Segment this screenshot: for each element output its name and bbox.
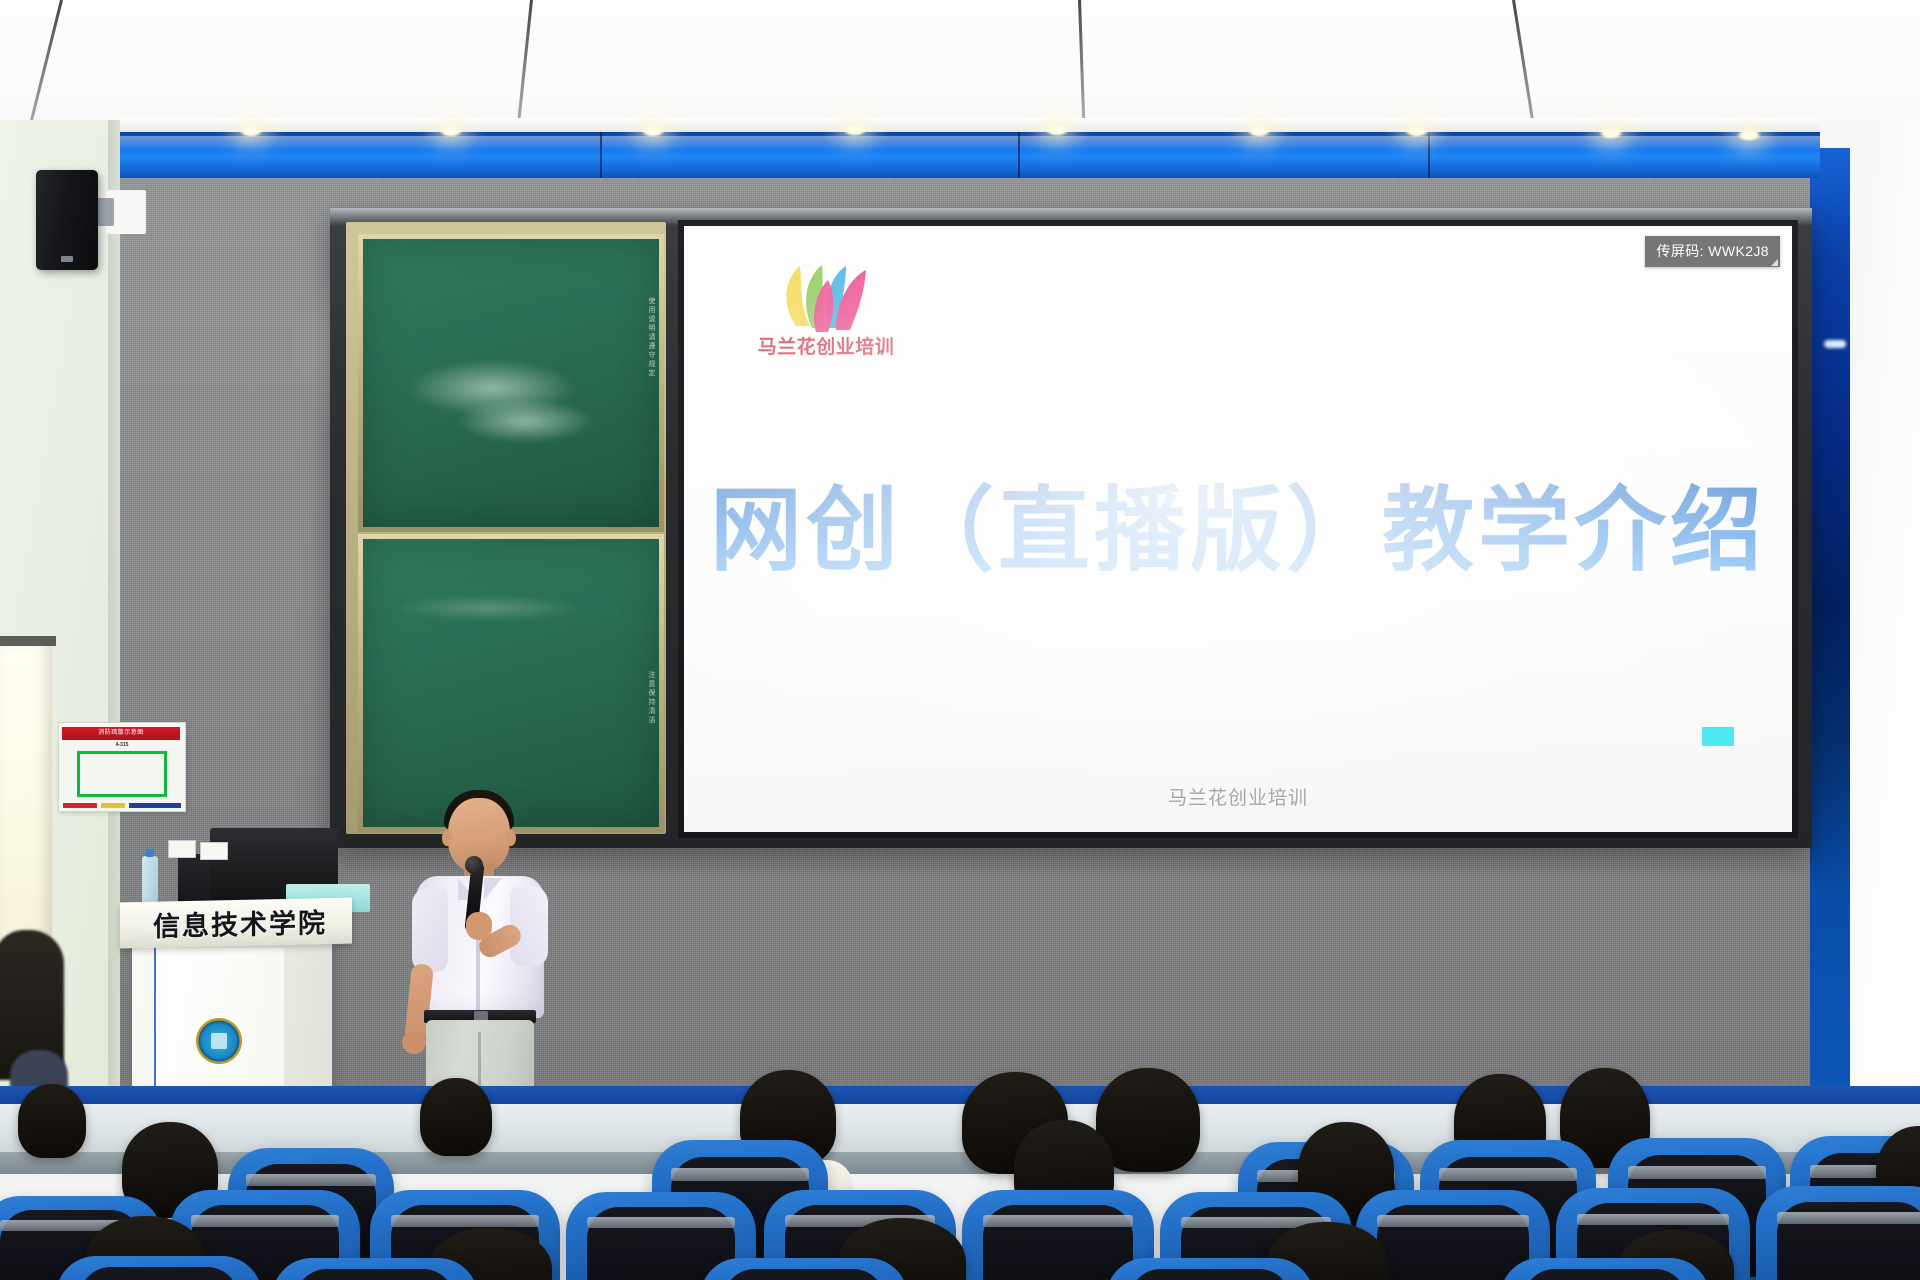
speaker-brand-mark — [61, 256, 73, 262]
papers — [168, 840, 196, 858]
seat-band — [671, 1168, 808, 1181]
seat-band — [1628, 1166, 1767, 1179]
blue-strip-seam — [1428, 132, 1430, 178]
chalk-smudge — [455, 399, 595, 443]
downlight — [842, 123, 868, 137]
school-crest-icon — [196, 1018, 242, 1064]
cast-code-text: 传屏码: WWK2J8 — [1656, 243, 1769, 259]
audience-seat[interactable] — [1106, 1258, 1314, 1280]
poster-room-number: 4-315 — [59, 742, 185, 748]
downlight — [1404, 124, 1430, 138]
seat-cushion — [79, 1267, 240, 1280]
presenter-collar-right — [484, 878, 502, 900]
downlight — [1736, 128, 1762, 142]
downlight — [438, 124, 464, 138]
microphone-capsule-icon — [465, 856, 483, 874]
evacuation-plan-poster: 消防疏散示意图 4-315 — [58, 722, 186, 812]
seat-cushion — [1523, 1269, 1687, 1280]
downlight — [1044, 123, 1070, 137]
blue-strip-gloss — [120, 136, 1820, 150]
accent-chip — [1702, 727, 1734, 746]
cast-code-badge: 传屏码: WWK2J8 — [1645, 236, 1780, 267]
chalkboard: 使用说明请遵守规定 注意保持清洁 — [346, 222, 666, 834]
poster-title: 消防疏散示意图 — [62, 727, 180, 740]
seat-band — [391, 1215, 539, 1226]
audience-seat[interactable] — [56, 1256, 262, 1280]
seat-cushion — [1129, 1269, 1291, 1280]
seat-band — [1777, 1212, 1920, 1224]
downlight — [1598, 126, 1624, 140]
doorway-header — [0, 636, 56, 646]
presenter-hand-left — [402, 1032, 426, 1054]
lecture-hall-scene: 消防疏散示意图 4-315 使用说明请遵守规定 注意保持清洁 传屏码: WWK2… — [0, 0, 1920, 1280]
chalkboard-side-label: 注意保持清洁 — [648, 671, 655, 725]
brand-logo-text: 马兰花创业培训 — [736, 338, 916, 357]
slide-footer: 马兰花创业培训 — [684, 783, 1792, 810]
blue-strip-seam — [1018, 132, 1020, 178]
chalkboard-panel-top: 使用说明请遵守规定 — [358, 234, 664, 532]
seat-band — [1377, 1215, 1528, 1226]
seat-cushion — [295, 1269, 456, 1280]
downlight — [238, 124, 264, 138]
seat-band — [1439, 1168, 1576, 1181]
blue-strip-seam — [600, 132, 602, 178]
seat-cushion — [723, 1269, 885, 1280]
downlight — [1246, 124, 1272, 138]
audience-seat[interactable] — [1756, 1186, 1920, 1280]
seat-band — [1577, 1214, 1728, 1226]
water-bottle — [142, 856, 158, 904]
seat-band — [983, 1215, 1133, 1226]
poster-legend-bar — [101, 803, 125, 808]
audience-seat[interactable] — [700, 1258, 908, 1280]
seat-band — [246, 1174, 375, 1186]
podium-label: 信息技术学院 — [142, 906, 338, 944]
audience-seat[interactable] — [272, 1258, 478, 1280]
presenter-ear — [506, 830, 516, 846]
blue-column-highlight — [1824, 340, 1846, 348]
right-wall — [1846, 120, 1920, 1100]
slide-title: 网创（直播版）教学介绍 — [684, 482, 1792, 581]
presenter-hand-right — [466, 912, 492, 940]
chalk-smudge — [393, 595, 583, 621]
presenter-ear — [442, 830, 452, 846]
presentation-slide[interactable]: 传屏码: WWK2J8 马兰花创业培训 网创（直播版）教学介绍 马兰花创业培 — [684, 226, 1792, 832]
flower-logo-icon — [766, 256, 886, 334]
poster-legend-bar — [63, 803, 97, 808]
chalkboard-side-label: 使用说明请遵守规定 — [648, 297, 655, 378]
projection-screen-bezel: 传屏码: WWK2J8 马兰花创业培训 网创（直播版）教学介绍 马兰花创业培 — [678, 220, 1798, 838]
seat-band — [587, 1217, 735, 1228]
presenter-arm-left — [412, 888, 448, 972]
audience-head — [420, 1078, 492, 1156]
audience-seat[interactable] — [1500, 1258, 1710, 1280]
badge-corner-icon — [1771, 259, 1778, 266]
downlight — [640, 124, 666, 138]
audience-head — [18, 1084, 86, 1158]
seat-band — [191, 1215, 339, 1226]
floor-plan-outline — [77, 751, 167, 797]
wall-speaker-icon — [36, 170, 98, 270]
presenter — [392, 780, 582, 1110]
papers — [200, 842, 228, 860]
brand-logo: 马兰花创业培训 — [736, 256, 916, 357]
poster-legend-bar — [129, 803, 181, 808]
